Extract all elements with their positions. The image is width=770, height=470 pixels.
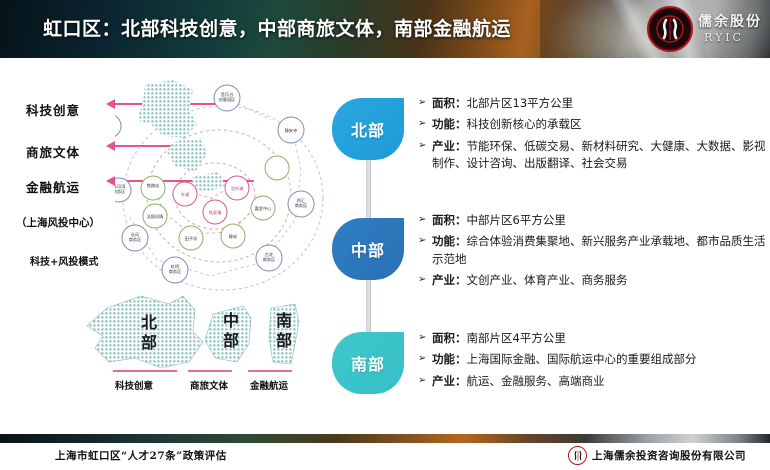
svg-text:嘉里中心: 嘉里中心 bbox=[255, 205, 273, 212]
svg-text:法国风情: 法国风情 bbox=[147, 213, 164, 220]
bullet-value: 综合体验消费集聚地、新兴服务产业承载地、都市品质生活示范地 bbox=[432, 234, 766, 265]
shanghai-network-diagram: 音乐谷创意园区 静安寺 徐汇商务区 古北商务区 虹桥商务区 长风商务区 苏河湾商… bbox=[115, 80, 330, 295]
bullet-value: 科技创新核心的承载区 bbox=[467, 117, 582, 131]
company-emblem-icon bbox=[647, 6, 693, 52]
district-caption-north: 科技创意 bbox=[115, 378, 153, 392]
svg-text:创意园区: 创意园区 bbox=[219, 96, 236, 103]
left-label-finance: 金融航运 bbox=[26, 177, 80, 196]
svg-text:商务区: 商务区 bbox=[263, 256, 276, 263]
svg-text:商务区: 商务区 bbox=[295, 202, 308, 209]
company-emblem-icon bbox=[568, 446, 587, 465]
svg-text:南: 南 bbox=[276, 311, 292, 330]
slide-header: 虹口区：北部科技创意，中部商旅文体，南部金融航运 儒余股份 RYIC bbox=[0, 0, 770, 58]
bullet-item: ➢ 面积：中部片区6平方公里 bbox=[418, 212, 766, 229]
bullet-key: 功能： bbox=[432, 117, 467, 131]
footer-project-title: 上海市虹口区“人才27条”政策评估 bbox=[55, 448, 227, 463]
brand-logo: 儒余股份 RYIC bbox=[647, 5, 762, 53]
bullet-item: ➢ 产业：文创产业、体育产业、商务服务 bbox=[418, 272, 766, 289]
bullet-item: ➢ 功能：上海国际金融、国际航运中心的重要组成部分 bbox=[418, 351, 766, 368]
bullet-item: ➢ 面积：北部片区13平方公里 bbox=[418, 95, 766, 112]
left-label-model: 科技+风投模式 bbox=[30, 253, 98, 268]
bullet-text: 功能：科技创新核心的承载区 bbox=[432, 116, 766, 133]
bullet-key: 面积： bbox=[432, 213, 467, 227]
chevron-right-icon: ➢ bbox=[418, 351, 432, 367]
section-badge-middle[interactable]: 中部 bbox=[332, 218, 404, 280]
svg-text:中: 中 bbox=[223, 311, 239, 330]
svg-text:商务区: 商务区 bbox=[129, 236, 142, 243]
slide: 虹口区：北部科技创意，中部商旅文体，南部金融航运 儒余股份 RYIC 科技创意 … bbox=[0, 0, 770, 470]
bullet-key: 产业： bbox=[432, 374, 467, 388]
left-label-commerce: 商旅文体 bbox=[26, 142, 80, 161]
chevron-right-icon: ➢ bbox=[418, 373, 432, 389]
svg-text:田子坊: 田子坊 bbox=[185, 235, 198, 242]
brand-name-cn: 儒余股份 bbox=[698, 15, 762, 29]
bullet-text: 面积：南部片区4平方公里 bbox=[432, 330, 766, 347]
svg-text:商务区: 商务区 bbox=[115, 188, 125, 195]
chevron-right-icon: ➢ bbox=[418, 330, 432, 346]
section-badge-south[interactable]: 南部 bbox=[332, 332, 404, 394]
bullet-text: 面积：中部片区6平方公里 bbox=[432, 212, 766, 229]
page-title: 虹口区：北部科技创意，中部商旅文体，南部金融航运 bbox=[43, 14, 511, 41]
district-caption-south: 金融航运 bbox=[250, 378, 288, 392]
bullet-value: 北部片区13平方公里 bbox=[467, 96, 574, 110]
chevron-right-icon: ➢ bbox=[418, 116, 432, 132]
bullet-text: 功能：上海国际金融、国际航运中心的重要组成部分 bbox=[432, 351, 766, 368]
bullet-key: 面积： bbox=[432, 331, 467, 345]
bullet-item: ➢ 产业：节能环保、低碳交易、新材料研究、大健康、大数据、影视制作、设计咨询、出… bbox=[418, 138, 766, 173]
svg-text:陆家嘴: 陆家嘴 bbox=[209, 209, 222, 216]
chevron-right-icon: ➢ bbox=[418, 138, 432, 154]
section-content-north: ➢ 面积：北部片区13平方公里 ➢ 功能：科技创新核心的承载区 ➢ 产业：节能环… bbox=[418, 95, 766, 176]
bullet-value: 航运、金融服务、高端商业 bbox=[467, 374, 605, 388]
svg-text:外滩: 外滩 bbox=[181, 191, 189, 198]
footer-company-block: 上海儒余投资咨询股份有限公司 bbox=[568, 446, 746, 465]
svg-text:北外滩: 北外滩 bbox=[231, 185, 244, 192]
district-rule-north bbox=[113, 370, 177, 372]
district-caption-middle: 商旅文体 bbox=[190, 378, 228, 392]
bullet-value: 文创产业、体育产业、商务服务 bbox=[467, 273, 628, 287]
svg-text:铁路站: 铁路站 bbox=[147, 182, 160, 189]
svg-text:静安寺: 静安寺 bbox=[285, 127, 298, 134]
bullet-item: ➢ 产业：航运、金融服务、高端商业 bbox=[418, 373, 766, 390]
bullet-key: 产业： bbox=[432, 139, 467, 153]
bullet-value: 节能环保、低碳交易、新材料研究、大健康、大数据、影视制作、设计咨询、出版翻译、社… bbox=[432, 139, 766, 170]
district-rule-south bbox=[248, 370, 292, 372]
brand-text: 儒余股份 RYIC bbox=[698, 15, 762, 43]
footer-band bbox=[0, 434, 770, 443]
bullet-item: ➢ 面积：南部片区4平方公里 bbox=[418, 330, 766, 347]
brand-name-en: RYIC bbox=[704, 32, 762, 43]
left-label-tech: 科技创意 bbox=[26, 100, 80, 119]
bullet-value: 上海国际金融、国际航运中心的重要组成部分 bbox=[467, 352, 697, 366]
bullet-key: 产业： bbox=[432, 273, 467, 287]
bullet-text: 功能：综合体验消费集聚地、新兴服务产业承载地、都市品质生活示范地 bbox=[432, 233, 766, 268]
bullet-text: 产业：文创产业、体育产业、商务服务 bbox=[432, 272, 766, 289]
bullet-item: ➢ 功能：科技创新核心的承载区 bbox=[418, 116, 766, 133]
bullet-key: 功能： bbox=[432, 234, 467, 248]
bullet-text: 产业：航运、金融服务、高端商业 bbox=[432, 373, 766, 390]
bullet-value: 中部片区6平方公里 bbox=[467, 213, 566, 227]
svg-text:部: 部 bbox=[141, 333, 157, 352]
bullet-text: 产业：节能环保、低碳交易、新材料研究、大健康、大数据、影视制作、设计咨询、出版翻… bbox=[432, 138, 766, 173]
bullet-key: 面积： bbox=[432, 96, 467, 110]
slide-footer: 上海市虹口区“人才27条”政策评估 上海儒余投资咨询股份有限公司 bbox=[0, 443, 770, 470]
svg-text:北: 北 bbox=[141, 313, 157, 332]
left-label-vc-center: （上海风投中心） bbox=[16, 215, 100, 230]
section-content-middle: ➢ 面积：中部片区6平方公里 ➢ 功能：综合体验消费集聚地、新兴服务产业承载地、… bbox=[418, 212, 766, 293]
svg-text:部: 部 bbox=[276, 331, 292, 350]
district-shapes-group: 北部 中部 南部 bbox=[65, 292, 330, 392]
bullet-value: 南部片区4平方公里 bbox=[467, 331, 566, 345]
section-badge-north[interactable]: 北部 bbox=[332, 98, 404, 160]
footer-company-name: 上海儒余投资咨询股份有限公司 bbox=[592, 448, 746, 463]
chevron-right-icon: ➢ bbox=[418, 272, 432, 288]
district-shape-north bbox=[87, 296, 203, 368]
district-rule-middle bbox=[188, 370, 232, 372]
section-content-south: ➢ 面积：南部片区4平方公里 ➢ 功能：上海国际金融、国际航运中心的重要组成部分… bbox=[418, 330, 766, 394]
bullet-text: 面积：北部片区13平方公里 bbox=[432, 95, 766, 112]
chevron-right-icon: ➢ bbox=[418, 95, 432, 111]
chevron-right-icon: ➢ bbox=[418, 212, 432, 228]
bullet-key: 功能： bbox=[432, 352, 467, 366]
chevron-right-icon: ➢ bbox=[418, 233, 432, 249]
svg-text:静安: 静安 bbox=[229, 233, 237, 240]
svg-text:部: 部 bbox=[223, 331, 239, 350]
svg-text:商务区: 商务区 bbox=[169, 268, 182, 275]
bullet-item: ➢ 功能：综合体验消费集聚地、新兴服务产业承载地、都市品质生活示范地 bbox=[418, 233, 766, 268]
